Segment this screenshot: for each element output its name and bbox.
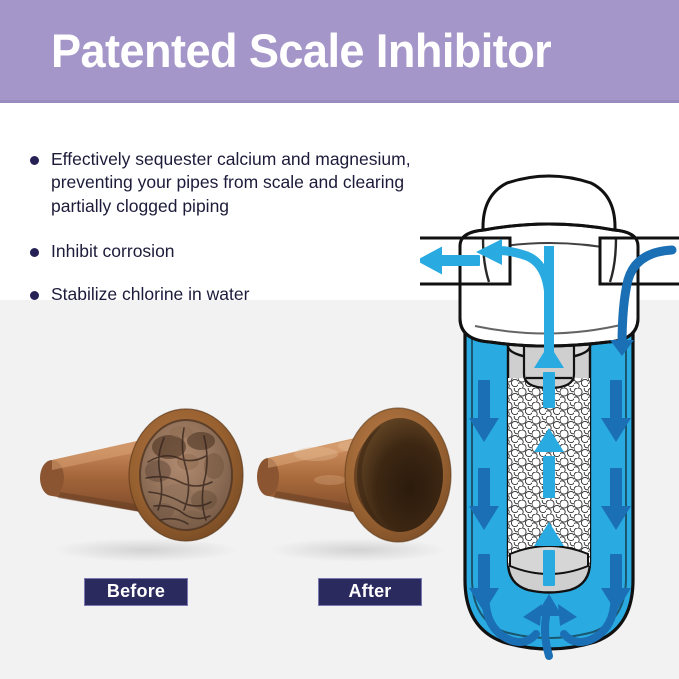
after-label: After [318, 578, 422, 606]
pipe-before-image [36, 392, 248, 564]
before-label: Before [84, 578, 188, 606]
list-item-label: Effectively sequester calcium and magnes… [51, 148, 450, 218]
list-item: Stabilize chlorine in water [30, 283, 450, 306]
feature-bullet-list: Effectively sequester calcium and magnes… [30, 148, 450, 306]
list-item: Effectively sequester calcium and magnes… [30, 148, 450, 218]
pipe-shadow [54, 538, 238, 562]
page-title: Patented Scale Inhibitor [51, 26, 551, 75]
header-band: Patented Scale Inhibitor [0, 0, 679, 103]
list-item-label: Inhibit corrosion [51, 240, 175, 263]
promo-infographic: Patented Scale Inhibitor Effectively seq… [0, 0, 679, 679]
header-bottom-edge [0, 100, 679, 103]
list-item: Inhibit corrosion [30, 240, 450, 263]
water-filter-diagram [420, 150, 679, 679]
bullet-dot-icon [30, 291, 39, 300]
bullet-dot-icon [30, 248, 39, 257]
bullet-dot-icon [30, 156, 39, 165]
list-item-label: Stabilize chlorine in water [51, 283, 249, 306]
